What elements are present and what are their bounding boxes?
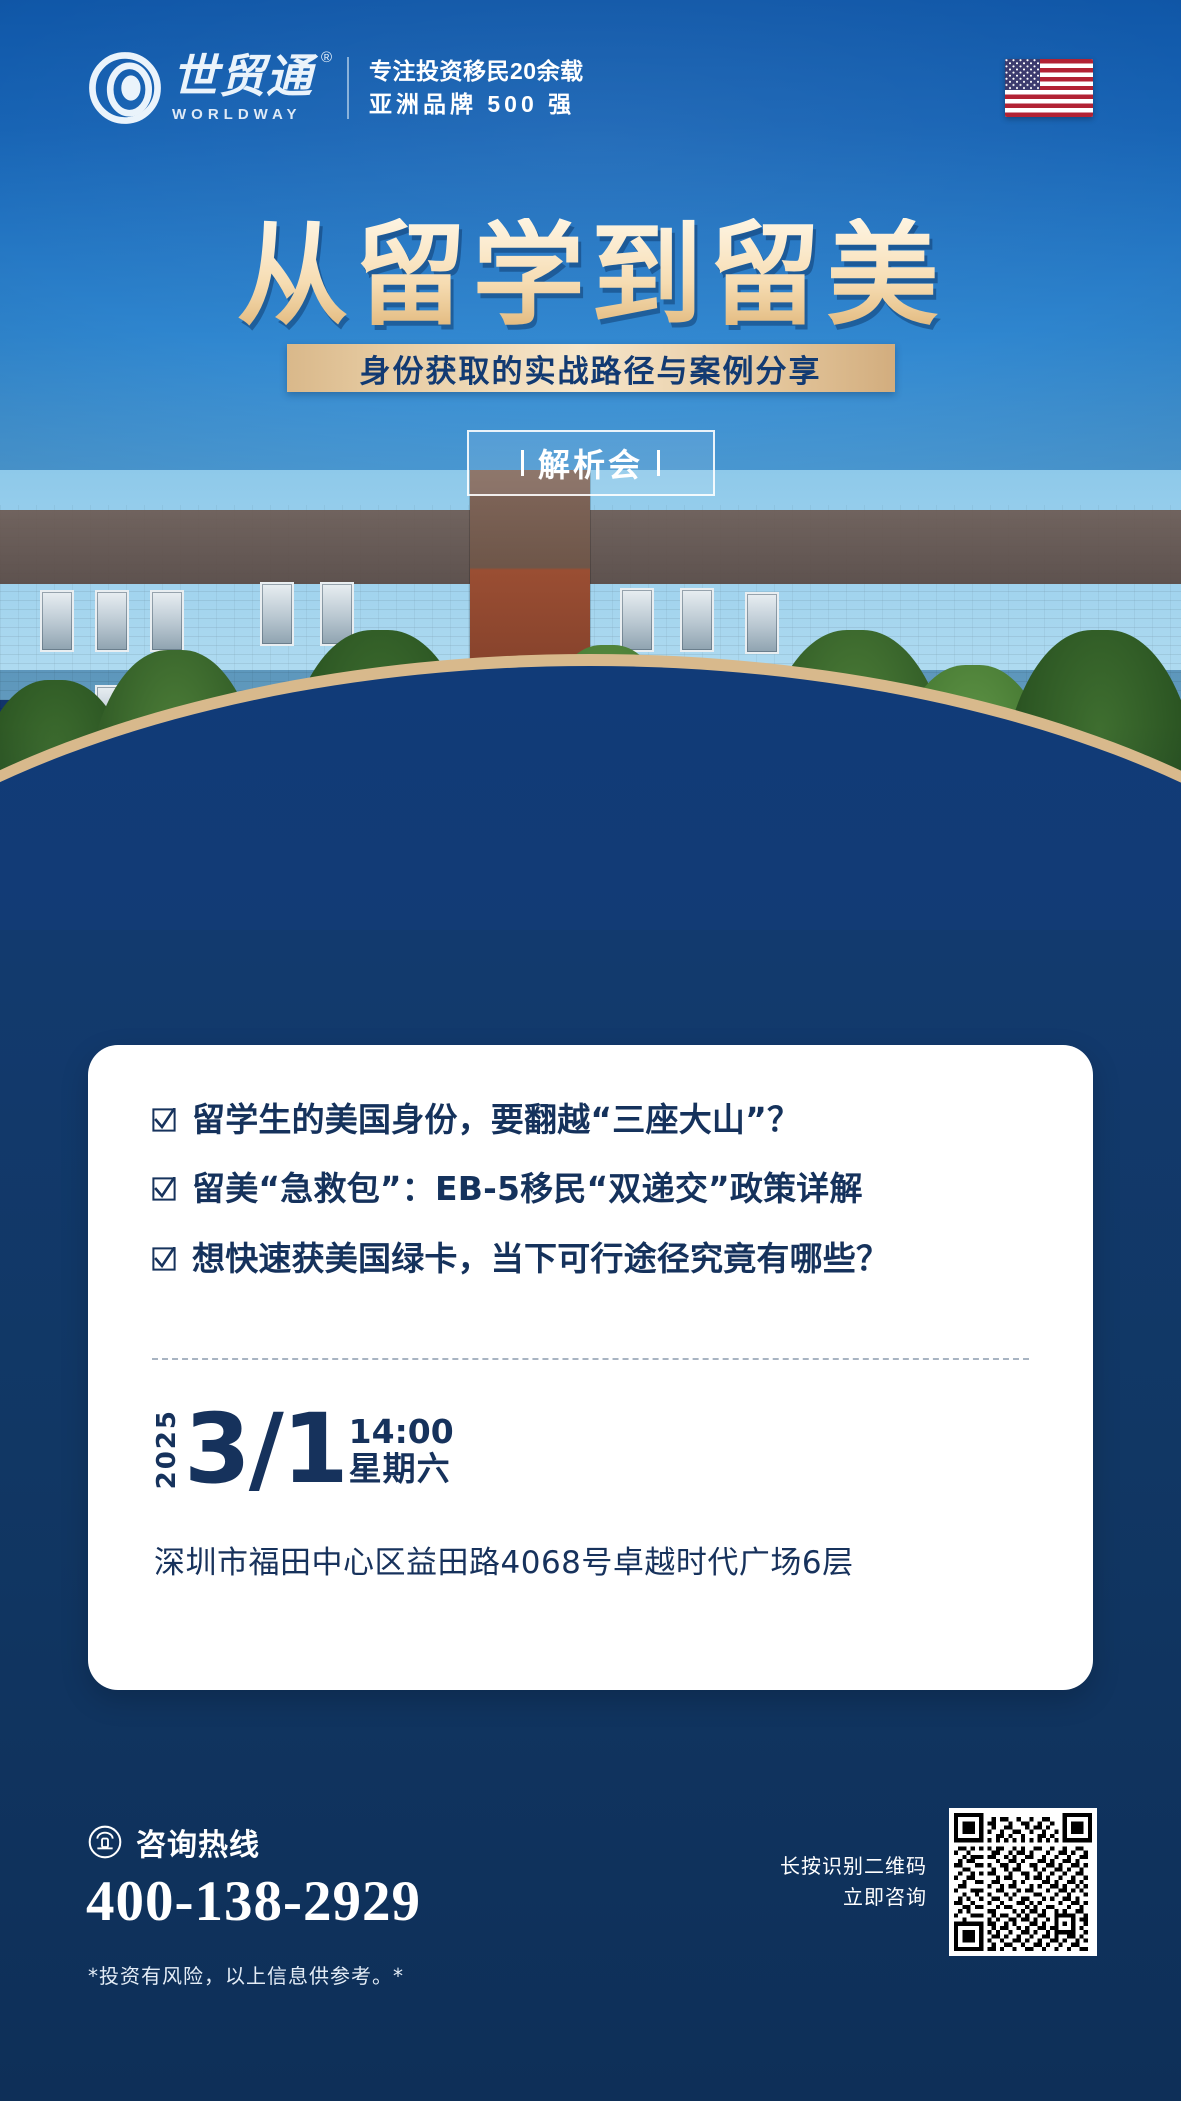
brand-name-en: WORLDWAY — [172, 106, 313, 123]
flag-stars — [1005, 59, 1040, 90]
qr-caption: 长按识别二维码 立即咨询 — [780, 1851, 927, 1913]
event-address: 深圳市福田中心区益田路4068号卓越时代广场6层 — [154, 1537, 854, 1582]
page-title: 从留学到留美 — [0, 218, 1181, 336]
list-item: 留学生的美国身份，要翻越“三座大山”？ — [152, 1099, 1029, 1140]
poster-root: 世贸通 ® WORLDWAY 专注投资移民20余载 亚洲品牌 500 强 从留学… — [0, 0, 1181, 2101]
tagline-line-2: 亚洲品牌 500 强 — [369, 91, 584, 117]
hotline-number[interactable]: 400-138-2929 — [86, 1869, 421, 1934]
telephone-icon — [88, 1825, 122, 1859]
checkbox-checked-icon — [152, 1108, 176, 1132]
subtitle-text: 身份获取的实战路径与案例分享 — [360, 346, 822, 391]
event-time: 14:00 — [349, 1415, 454, 1448]
header-divider — [347, 57, 349, 119]
card-divider — [152, 1358, 1029, 1360]
event-type-badge: 解析会 — [467, 430, 715, 496]
worldway-logo-icon — [88, 51, 162, 125]
agenda-card: 留学生的美国身份，要翻越“三座大山”？ 留美“急救包”：EB-5移民“双递交”政… — [88, 1045, 1093, 1690]
badge-label: 解析会 — [538, 440, 643, 486]
badge-right-tick — [657, 450, 660, 476]
list-item: 留美“急救包”：EB-5移民“双递交”政策详解 — [152, 1168, 1029, 1209]
checkbox-checked-icon — [152, 1247, 176, 1271]
event-year: 2025 — [154, 1409, 180, 1489]
registered-mark: ® — [321, 49, 332, 66]
agenda-list: 留学生的美国身份，要翻越“三座大山”？ 留美“急救包”：EB-5移民“双递交”政… — [152, 1099, 1029, 1279]
header-bar: 世贸通 ® WORLDWAY 专注投资移民20余载 亚洲品牌 500 强 — [0, 0, 1181, 175]
photo-shading-overlay — [0, 470, 1181, 930]
subtitle-banner: 身份获取的实战路径与案例分享 — [287, 344, 895, 392]
tagline-line-1: 专注投资移民20余载 — [369, 58, 584, 84]
event-weekday: 星期六 — [349, 1448, 454, 1489]
us-flag-icon — [1005, 59, 1093, 117]
hotline-row: 咨询热线 — [88, 1820, 260, 1864]
event-date: 3/1 — [184, 1405, 347, 1493]
campus-photo — [0, 470, 1181, 930]
brand-logo[interactable]: 世贸通 ® WORLDWAY — [88, 51, 313, 125]
brand-name-cn: 世贸通 — [172, 53, 313, 99]
qr-code-image — [954, 1813, 1092, 1951]
list-item: 想快速获美国绿卡，当下可行途径究竟有哪些？ — [152, 1238, 1029, 1279]
qr-block: 长按识别二维码 立即咨询 — [767, 1808, 1097, 1956]
list-item-label: 想快速获美国绿卡，当下可行途径究竟有哪些？ — [192, 1238, 889, 1279]
checkbox-checked-icon — [152, 1177, 176, 1201]
disclaimer-text: *投资有风险，以上信息供参考。* — [88, 1960, 404, 1989]
list-item-label: 留学生的美国身份，要翻越“三座大山”？ — [192, 1099, 800, 1140]
qr-caption-line-2: 立即咨询 — [780, 1882, 927, 1913]
list-item-label: 留美“急救包”：EB-5移民“双递交”政策详解 — [192, 1168, 863, 1209]
badge-left-tick — [521, 450, 524, 476]
event-datetime: 2025 3/1 14:00 星期六 — [154, 1405, 454, 1493]
hotline-label: 咨询热线 — [136, 1820, 260, 1864]
brand-tagline: 专注投资移民20余载 亚洲品牌 500 强 — [369, 58, 584, 117]
qr-code[interactable] — [949, 1808, 1097, 1956]
qr-caption-line-1: 长按识别二维码 — [780, 1851, 927, 1882]
